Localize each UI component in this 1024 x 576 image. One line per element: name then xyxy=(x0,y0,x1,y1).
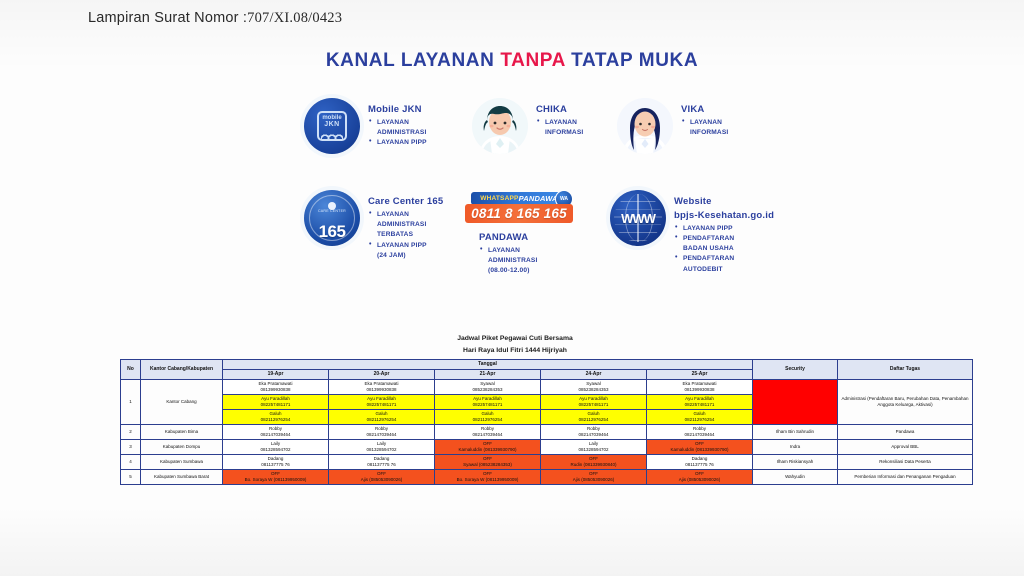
pandawa-banner-word1: WHATSAPP xyxy=(480,195,518,202)
row-no: 1 xyxy=(121,379,141,424)
pandawa-whatsapp-icon: WHATSAPP PANDAWA WA 0811 8 165 165 xyxy=(465,192,573,226)
row-office: Kabupaten Bima xyxy=(141,424,223,439)
headset-165-icon: CARE CENTER 165 xyxy=(304,190,360,246)
channel-name-chika: CHIKA xyxy=(536,104,583,116)
letterhead-label: Lampiran Surat Nomor : xyxy=(88,10,247,26)
header-date-19-apr: 19-Apr xyxy=(223,369,329,379)
duty-cell: Syawal085238284353 xyxy=(541,379,647,394)
table-row: 1 Kantor Cabang Eka Pratamawati081399930… xyxy=(121,379,973,394)
channel-features-care-center: LAYANAN ADMINISTRASI TERBATAS LAYANAN PI… xyxy=(368,210,443,261)
duty-cell: Dadang081137775 76 xyxy=(647,455,753,470)
mobile-jkn-logo-word2: JKN xyxy=(324,121,340,128)
duty-cell: Eka Pratamawati081399930838 xyxy=(329,379,435,394)
header-date-20-apr: 20-Apr xyxy=(329,369,435,379)
duty-cell: Ayu Faradillah082257481171 xyxy=(223,394,329,409)
channel-features-pandawa: LAYANAN ADMINISTRASI (08.00-12.00) xyxy=(479,246,537,277)
duty-cell-off: OFFRudin (081339930840) xyxy=(541,455,647,470)
duty-cell: Ayu Faradillah082257481171 xyxy=(647,394,753,409)
row-office: Kabupaten Sumbawa Barat xyxy=(141,470,223,485)
duty-cell: Robby082147039464 xyxy=(329,424,435,439)
security-cell: Indra xyxy=(753,440,838,455)
row-office: Kantor Cabang xyxy=(141,379,223,424)
channel-features-vika: LAYANAN INFORMASI xyxy=(681,118,728,138)
header-task: Daftar Tugas xyxy=(838,360,973,380)
feature-item: LAYANAN INFORMASI xyxy=(545,118,583,138)
title-part-2: TATAP MUKA xyxy=(565,50,698,71)
channel-vika: VIKA LAYANAN INFORMASI xyxy=(617,98,728,154)
task-cell: Rekonsiliasi Data Peserta xyxy=(838,455,973,470)
channel-name-pandawa: PANDAWA xyxy=(479,232,537,244)
chika-avatar-icon xyxy=(472,98,528,154)
duty-cell: Syawal085238284353 xyxy=(435,379,541,394)
channel-website: WWW Website bpjs-Kesehatan.go.id LAYANAN… xyxy=(610,190,774,275)
feature-item: LAYANAN PIPP xyxy=(377,138,427,148)
duty-cell: Ayu Faradillah082257481171 xyxy=(435,394,541,409)
table-body: 1 Kantor Cabang Eka Pratamawati081399930… xyxy=(121,379,973,485)
channel-care-center: CARE CENTER 165 Care Center 165 LAYANAN … xyxy=(304,190,443,261)
feature-item: LAYANAN PIPP xyxy=(683,224,774,234)
channel-mobile-jkn: mobile JKN Mobile JKN LAYANAN ADMINISTRA… xyxy=(304,98,427,154)
pandawa-banner-word2: PANDAWA xyxy=(519,194,558,203)
feature-item: LAYANAN INFORMASI xyxy=(690,118,728,138)
schedule-section: Jadwal Piket Pegawai Cuti Bersama Hari R… xyxy=(120,333,910,485)
table-row: 5 Kabupaten Sumbawa Barat OFFBo. Soraya … xyxy=(121,470,973,485)
duty-cell-off: OFFBo. Soraya W (081139950009) xyxy=(223,470,329,485)
table-title-line-1: Jadwal Piket Pegawai Cuti Bersama xyxy=(120,333,910,345)
duty-cell: Laily081328594702 xyxy=(541,440,647,455)
feature-item: LAYANAN ADMINISTRASI xyxy=(377,118,427,138)
header-no: No xyxy=(121,360,141,380)
duty-cell: Eka Pratamawati081399930838 xyxy=(647,379,753,394)
duty-cell: Dadang081137775 76 xyxy=(329,455,435,470)
header-date-25-apr: 25-Apr xyxy=(647,369,753,379)
task-cell: Pemberian Informasi dan Penanganan Penga… xyxy=(838,470,973,485)
duty-cell-off: OFFSyawal (085238284353) xyxy=(435,455,541,470)
table-head: No Kantor Cabang/Kabupaten Tanggal Secur… xyxy=(121,360,973,380)
duty-cell-off: OFFKamaluddin (081339930790) xyxy=(435,440,541,455)
channel-chika: CHIKA LAYANAN INFORMASI xyxy=(472,98,583,154)
header-office: Kantor Cabang/Kabupaten xyxy=(141,360,223,380)
duty-cell-off: OFFAjis (085053090026) xyxy=(541,470,647,485)
duty-cell: Galuh082112976254 xyxy=(647,409,753,424)
duty-cell: Robby082147039464 xyxy=(541,424,647,439)
row-office: Kabupaten Sumbawa xyxy=(141,455,223,470)
duty-cell: Laily081328594702 xyxy=(223,440,329,455)
duty-cell: Galuh082112976254 xyxy=(329,409,435,424)
vika-avatar-icon xyxy=(617,98,673,154)
header-date-21-apr: 21-Apr xyxy=(435,369,541,379)
header-date-24-apr: 24-Apr xyxy=(541,369,647,379)
channel-name-care-center: Care Center 165 xyxy=(368,196,443,208)
channel-features-mobile-jkn: LAYANAN ADMINISTRASI LAYANAN PIPP xyxy=(368,118,427,149)
table-title-line-2: Hari Raya Idul Fitri 1444 Hijriyah xyxy=(120,345,910,357)
title-highlight: TANPA xyxy=(500,50,565,71)
task-cell: Approval BBL xyxy=(838,440,973,455)
duty-cell: Eka Pratamawati081399930838 xyxy=(223,379,329,394)
duty-cell-off: OFFBo. Soraya W (081139950009) xyxy=(435,470,541,485)
channel-name-website: Website xyxy=(674,196,774,208)
security-cell: Wahyudin xyxy=(753,470,838,485)
row-office: Kabupaten Dompu xyxy=(141,440,223,455)
feature-item: PENDAFTARAN AUTODEBIT xyxy=(683,254,774,274)
header-date-group: Tanggal xyxy=(223,360,753,370)
header-security: Security xyxy=(753,360,838,380)
channel-features-chika: LAYANAN INFORMASI xyxy=(536,118,583,138)
channel-poster: mobile JKN Mobile JKN LAYANAN ADMINISTRA… xyxy=(280,92,810,297)
security-cell: Ilham Riskiansyah xyxy=(753,455,838,470)
feature-item: LAYANAN PIPP (24 JAM) xyxy=(377,241,443,261)
row-no: 2 xyxy=(121,424,141,439)
duty-cell: Robby082147039464 xyxy=(435,424,541,439)
globe-www-icon: WWW xyxy=(610,190,666,246)
title-part-1: KANAL LAYANAN xyxy=(326,50,501,71)
duty-schedule-table: No Kantor Cabang/Kabupaten Tanggal Secur… xyxy=(120,359,973,485)
duty-cell: Galuh082112976254 xyxy=(435,409,541,424)
row-no: 3 xyxy=(121,440,141,455)
table-header-row-1: No Kantor Cabang/Kabupaten Tanggal Secur… xyxy=(121,360,973,370)
duty-cell: Galuh082112976254 xyxy=(223,409,329,424)
duty-cell: Laily081328594702 xyxy=(329,440,435,455)
duty-cell: Robby082147039464 xyxy=(223,424,329,439)
duty-cell: Dadang081137775 76 xyxy=(223,455,329,470)
feature-item: LAYANAN ADMINISTRASI TERBATAS xyxy=(377,210,443,241)
website-url[interactable]: bpjs-Kesehatan.go.id xyxy=(674,210,774,222)
task-cell: Administrasi (Pendaftaran Baru, Perubaha… xyxy=(838,379,973,424)
duty-cell: Ayu Faradillah082257481171 xyxy=(541,394,647,409)
duty-cell-off: OFFAjis (085053090026) xyxy=(329,470,435,485)
table-row: 2 Kabupaten Bima Robby082147039464 Robby… xyxy=(121,424,973,439)
channel-name-mobile-jkn: Mobile JKN xyxy=(368,104,427,116)
security-cell xyxy=(753,379,838,424)
channel-features-website: LAYANAN PIPP PENDAFTARAN BADAN USAHA PEN… xyxy=(674,224,774,275)
duty-cell: Ayu Faradillah082257481171 xyxy=(329,394,435,409)
task-cell: Pandawa xyxy=(838,424,973,439)
row-no: 5 xyxy=(121,470,141,485)
pandawa-phone-number: 0811 8 165 165 xyxy=(465,204,573,223)
channel-pandawa: WHATSAPP PANDAWA WA 0811 8 165 165 PANDA… xyxy=(465,192,537,277)
mobile-jkn-wave-mark xyxy=(321,129,343,139)
duty-cell: Robby082147039464 xyxy=(647,424,753,439)
page-title: KANAL LAYANAN TANPA TATAP MUKA xyxy=(0,50,1024,72)
globe-www-text: WWW xyxy=(621,211,655,226)
letterhead: Lampiran Surat Nomor :707/XI.08/0423 xyxy=(88,10,342,27)
duty-cell: Galuh082112976254 xyxy=(541,409,647,424)
table-row: 3 Kabupaten Dompu Laily081328594702 Lail… xyxy=(121,440,973,455)
document-page: Lampiran Surat Nomor :707/XI.08/0423 KAN… xyxy=(0,0,1024,576)
row-no: 4 xyxy=(121,455,141,470)
table-row: 4 Kabupaten Sumbawa Dadang081137775 76 D… xyxy=(121,455,973,470)
feature-item: PENDAFTARAN BADAN USAHA xyxy=(683,234,774,254)
security-cell: Ilham Bin Sahrudin xyxy=(753,424,838,439)
letterhead-number: 707/XI.08/0423 xyxy=(247,10,342,26)
channel-name-vika: VIKA xyxy=(681,104,728,116)
feature-item: LAYANAN ADMINISTRASI (08.00-12.00) xyxy=(488,246,537,277)
mobile-jkn-icon: mobile JKN xyxy=(304,98,360,154)
duty-cell-off: OFFAjis (085053090026) xyxy=(647,470,753,485)
duty-cell-off: OFFKamaluddin (081339930790) xyxy=(647,440,753,455)
